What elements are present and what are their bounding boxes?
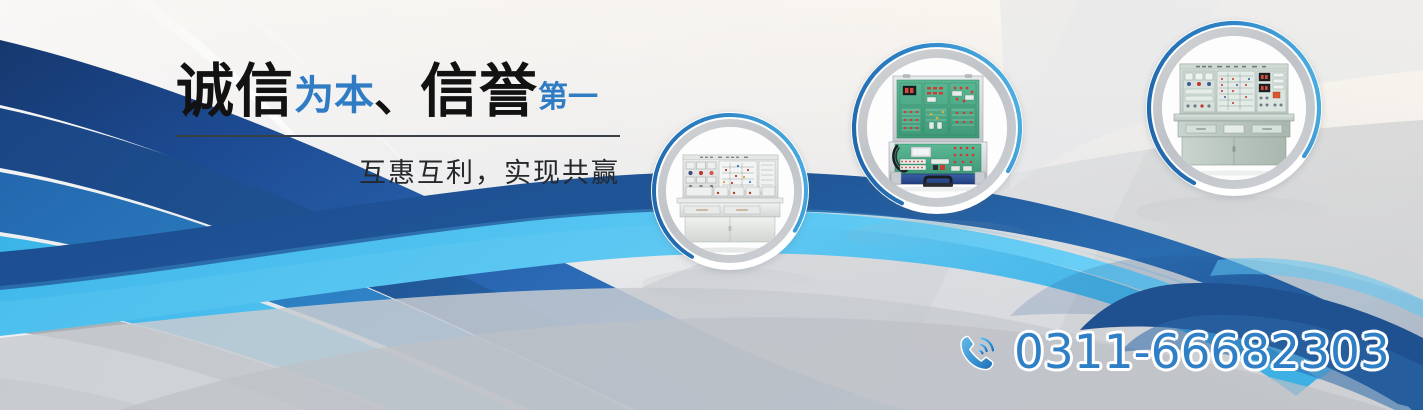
circle-inner-area [867, 58, 1007, 198]
headline-part-1: 诚信 [176, 62, 294, 120]
portable-electronics-training-case-illustration [867, 58, 1007, 198]
phone-number: 0311-66682303 [1014, 325, 1390, 380]
promotional-banner: 诚信 为本 、 信誉 第一 互惠互利，实现共赢 [0, 0, 1423, 410]
motor-control-training-bench-illustration [1162, 36, 1306, 180]
circle-inner-area [666, 127, 794, 255]
headline-divider [176, 135, 620, 137]
phone-call-icon [955, 330, 1001, 376]
headline: 诚信 为本 、 信誉 第一 [176, 62, 626, 128]
headline-separator: 、 [374, 72, 420, 118]
headline-part-3: 信誉 [420, 62, 538, 120]
headline-block: 诚信 为本 、 信誉 第一 互惠互利，实现共赢 [176, 62, 626, 190]
product-circle-left[interactable] [651, 112, 809, 270]
circle-inner-area [1162, 36, 1306, 180]
headline-part-2: 为本 [294, 76, 374, 116]
product-circle-right[interactable] [1146, 20, 1322, 196]
headline-part-4: 第一 [538, 83, 598, 113]
electrical-training-workbench-illustration [666, 127, 794, 255]
subtitle: 互惠互利，实现共赢 [176, 151, 620, 190]
contact-phone[interactable]: 0311-66682303 [955, 325, 1390, 380]
product-circle-center[interactable] [851, 42, 1023, 214]
